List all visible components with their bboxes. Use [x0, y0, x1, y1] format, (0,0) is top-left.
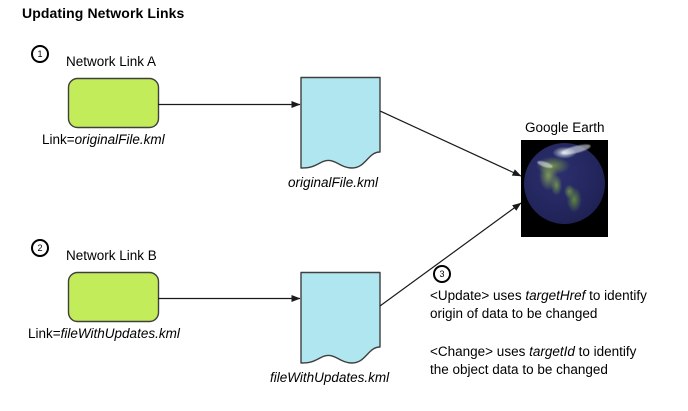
file-with-updates-caption: fileWithUpdates.kml — [270, 370, 389, 386]
note-line-1-pre: <Update> uses — [430, 288, 525, 303]
step-badge-2: 2 — [31, 239, 49, 257]
note-line-1-em: targetHref — [525, 288, 585, 303]
link-a-prefix: Link= — [42, 132, 75, 147]
network-link-b-title: Network Link B — [66, 248, 157, 264]
original-file-document-shape[interactable] — [301, 78, 380, 169]
link-b-value: fileWithUpdates.kml — [61, 326, 180, 341]
original-file-caption: originalFile.kml — [288, 175, 378, 191]
earth-globe-icon — [524, 143, 605, 224]
note-line-3-pre: <Change> uses — [430, 344, 529, 359]
step-badge-3: 3 — [433, 265, 451, 283]
note-line-2: origin of data to be changed — [430, 306, 597, 322]
link-b-prefix: Link= — [28, 326, 61, 341]
note-line-2-pre: origin of data to be changed — [430, 306, 597, 321]
note-line-3: <Change> uses targetId to identify — [430, 344, 636, 360]
arrow-original-file-to-google-earth — [380, 111, 521, 176]
diagram-title: Updating Network Links — [22, 5, 184, 21]
network-link-b-link-label: Link=fileWithUpdates.kml — [28, 326, 180, 342]
google-earth-label: Google Earth — [525, 120, 605, 136]
note-line-1-post: to identify — [585, 288, 647, 303]
note-line-1: <Update> uses targetHref to identify — [430, 288, 647, 304]
note-line-3-post: to identify — [575, 344, 637, 359]
network-link-a-box[interactable] — [69, 79, 159, 128]
file-with-updates-document-shape[interactable] — [301, 273, 380, 364]
link-a-value: originalFile.kml — [75, 132, 165, 147]
note-line-4-pre: the object data to be changed — [430, 362, 608, 377]
note-line-4: the object data to be changed — [430, 362, 608, 378]
google-earth-thumbnail[interactable] — [521, 140, 608, 237]
network-link-b-box[interactable] — [69, 273, 159, 322]
diagram-canvas: Updating Network Links 1 Network Link A … — [0, 0, 688, 411]
network-link-a-link-label: Link=originalFile.kml — [42, 132, 165, 148]
step-badge-1: 1 — [31, 45, 49, 63]
network-link-a-title: Network Link A — [66, 54, 156, 70]
note-line-3-em: targetId — [529, 344, 575, 359]
